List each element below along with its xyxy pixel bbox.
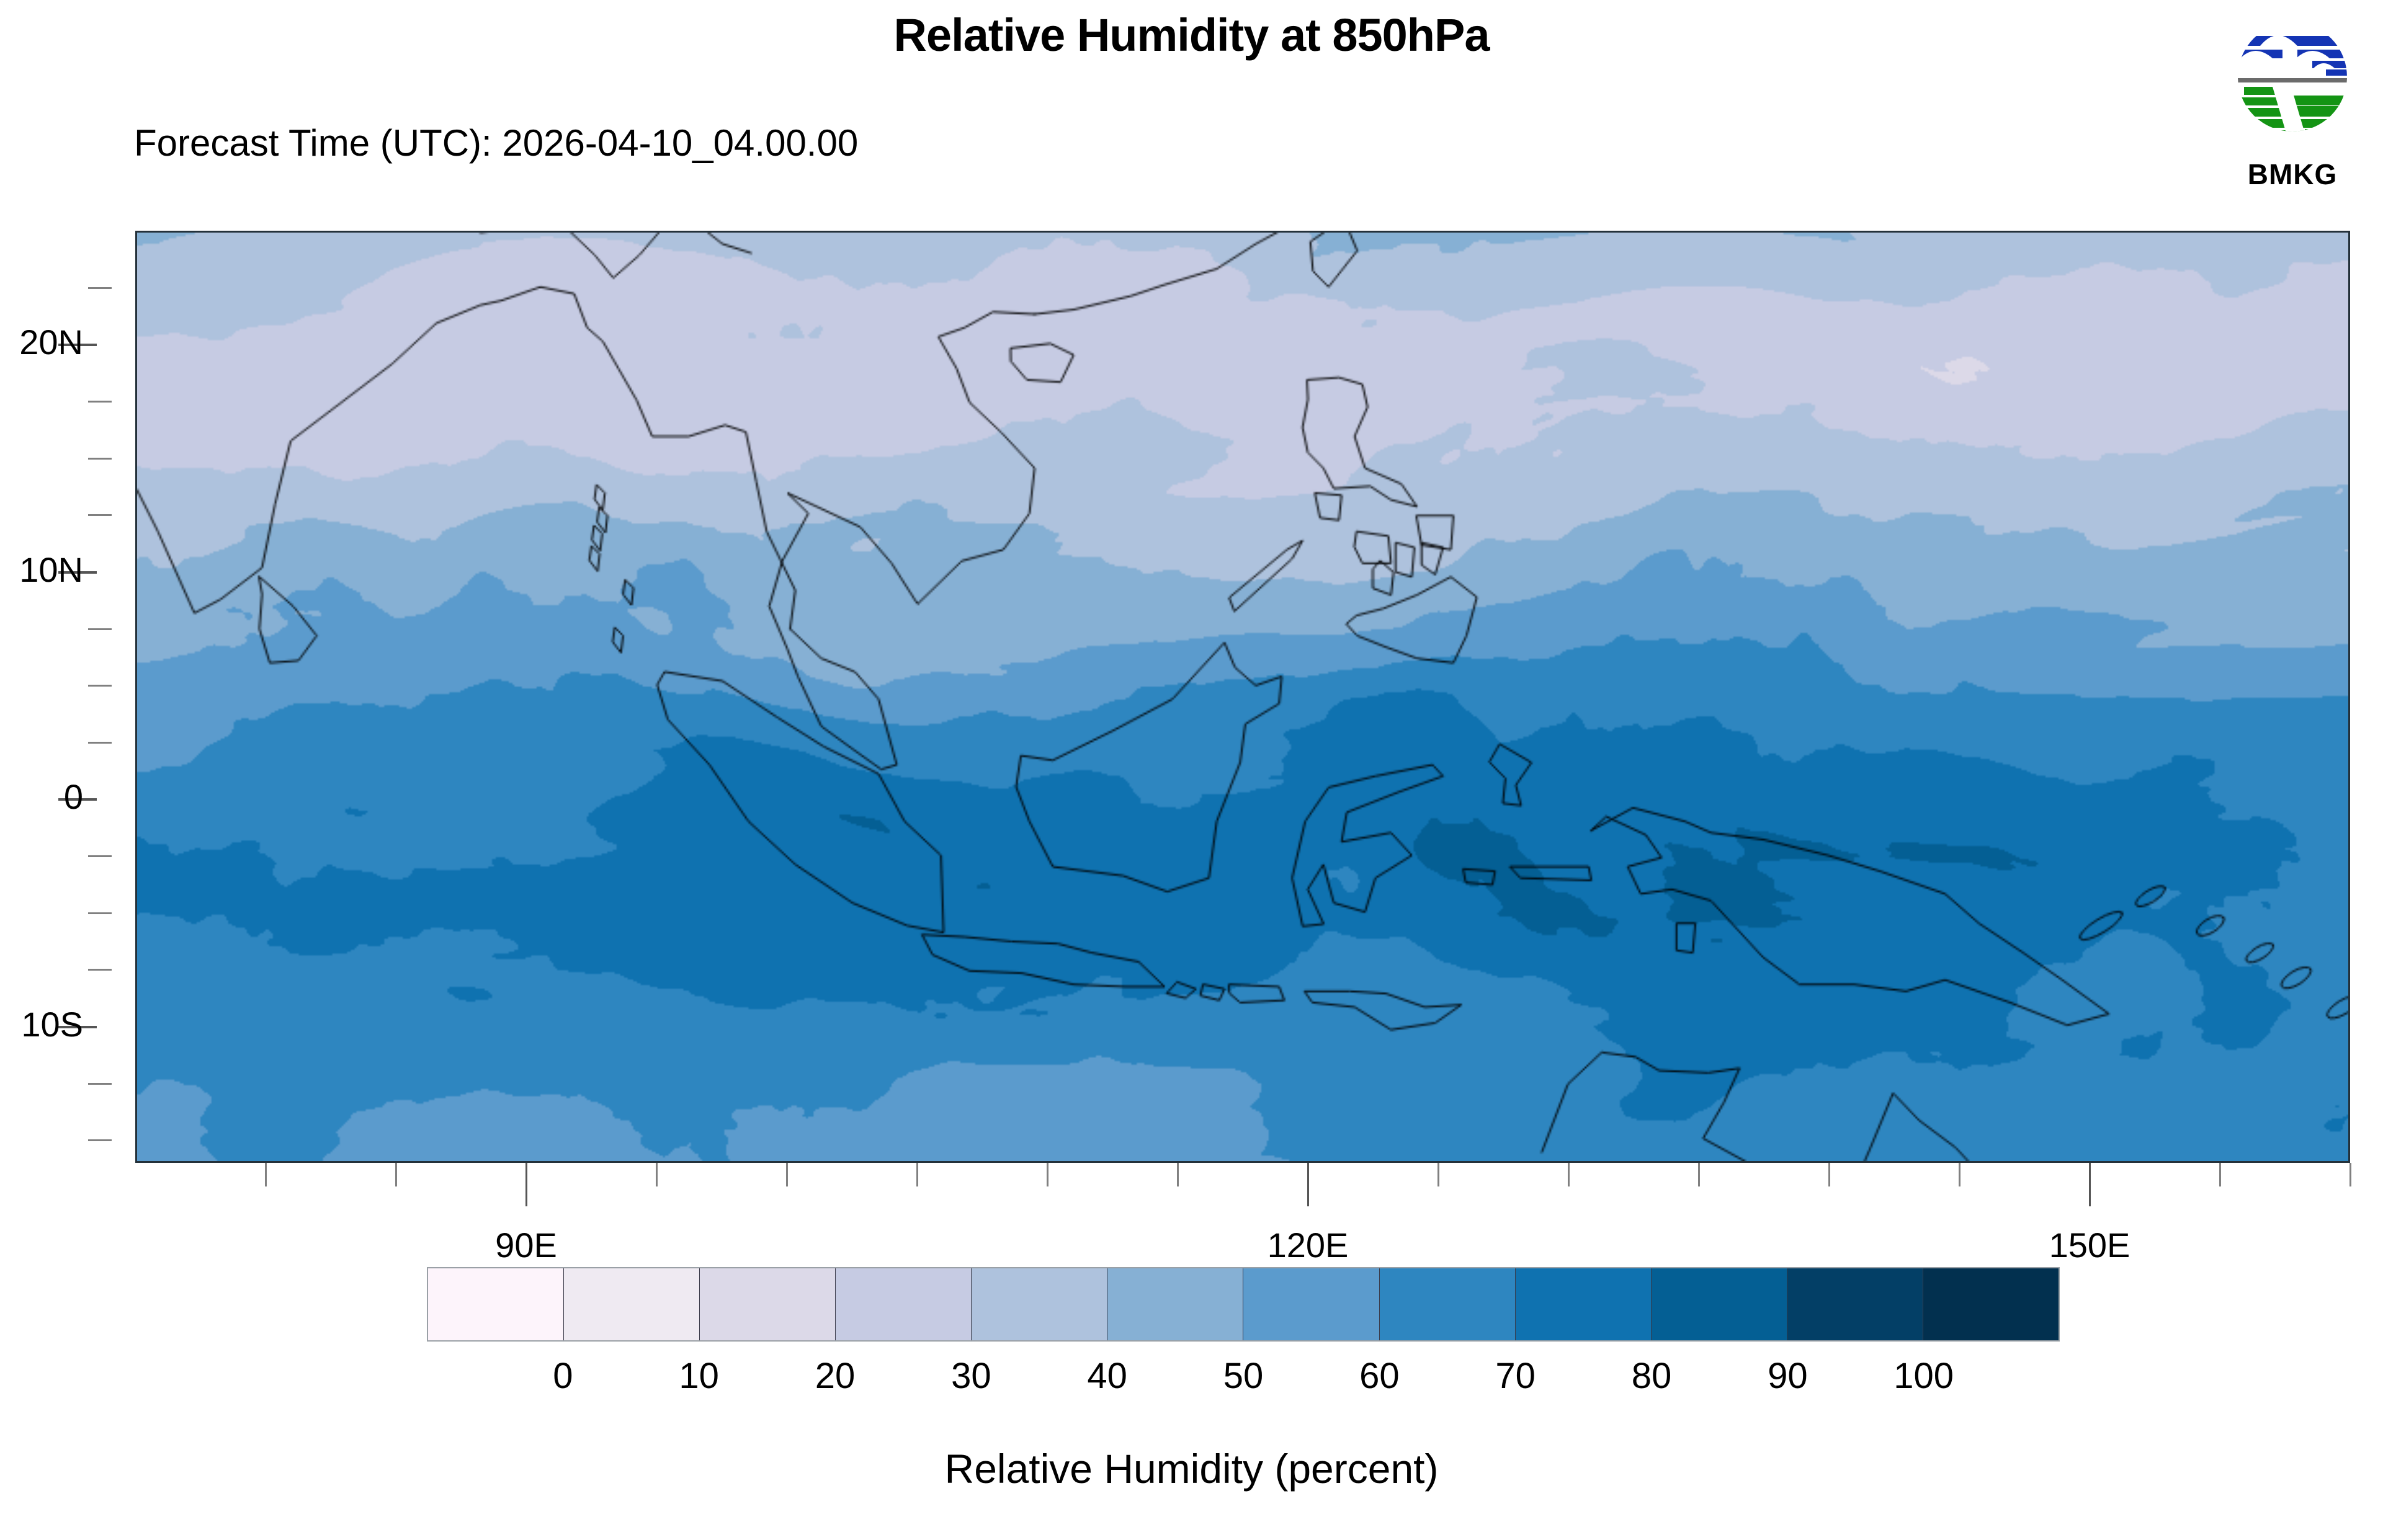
axis-tick-x-minor [2219, 1163, 2221, 1186]
colorbar-band-0 [428, 1268, 564, 1340]
axis-tick-x-minor [1177, 1163, 1179, 1186]
axis-tick-x-minor [1568, 1163, 1570, 1186]
axis-tick-y-minor [88, 1139, 112, 1141]
colorbar-band-1 [564, 1268, 700, 1340]
axis-tick-x [2089, 1163, 2091, 1206]
axis-tick-x-minor [395, 1163, 397, 1186]
colorbar-title: Relative Humidity (percent) [0, 1445, 2383, 1492]
colorbar-band-3 [836, 1268, 972, 1340]
axis-tick-y-minor [88, 685, 112, 687]
axis-label-x: 120E [1184, 1225, 1432, 1265]
colorbar-band-8 [1516, 1268, 1652, 1340]
axis-label-x: 90E [402, 1225, 650, 1265]
axis-tick-x-minor [1437, 1163, 1439, 1186]
colorbar-band-7 [1380, 1268, 1516, 1340]
humidity-map-plot [135, 231, 2350, 1163]
axis-tick-x-minor [786, 1163, 788, 1186]
page-title: Relative Humidity at 850hPa [0, 9, 2383, 61]
axis-tick-x [1307, 1163, 1309, 1206]
axis-tick-y-minor [88, 742, 112, 744]
bmkg-emblem-icon [2235, 4, 2349, 159]
axis-label-y: 10S [0, 1004, 83, 1044]
axis-tick-x-minor [1047, 1163, 1048, 1186]
axis-tick-y-minor [88, 458, 112, 460]
humidity-contour-canvas [137, 233, 2348, 1161]
axis-label-y: 10N [0, 550, 83, 590]
axis-tick-x-minor [656, 1163, 658, 1186]
axis-tick-x-minor [1959, 1163, 1960, 1186]
colorbar-tick-label: 100 [1831, 1355, 2017, 1397]
axis-tick-x [525, 1163, 527, 1206]
colorbar-band-6 [1243, 1268, 1379, 1340]
bmkg-logo-text: BMKG [2230, 158, 2354, 191]
colorbar-band-2 [700, 1268, 836, 1340]
axis-label-y: 20N [0, 322, 83, 362]
axis-label-x: 150E [1965, 1225, 2214, 1265]
axis-tick-y-minor [88, 969, 112, 971]
colorbar-band-5 [1107, 1268, 1243, 1340]
bmkg-logo: BMKG [2230, 4, 2354, 208]
axis-tick-y-minor [88, 1083, 112, 1085]
axis-tick-y-minor [88, 912, 112, 914]
axis-tick-y-minor [88, 628, 112, 630]
axis-tick-y-minor [88, 855, 112, 857]
axis-label-y: 0 [0, 777, 83, 817]
axis-tick-x-minor [1698, 1163, 1700, 1186]
axis-tick-y-minor [88, 287, 112, 289]
axis-tick-x-minor [2349, 1163, 2351, 1186]
forecast-time-label: Forecast Time (UTC): 2026-04-10_04.00.00 [134, 122, 858, 164]
axis-tick-y-minor [88, 401, 112, 403]
colorbar-band-10 [1787, 1268, 1923, 1340]
axis-tick-y-minor [88, 514, 112, 516]
colorbar-band-11 [1923, 1268, 2059, 1340]
axis-tick-x-minor [1828, 1163, 1830, 1186]
axis-tick-x-minor [916, 1163, 918, 1186]
colorbar-band-4 [972, 1268, 1107, 1340]
colorbar [427, 1267, 2060, 1342]
colorbar-band-9 [1652, 1268, 1787, 1340]
axis-tick-x-minor [265, 1163, 267, 1186]
